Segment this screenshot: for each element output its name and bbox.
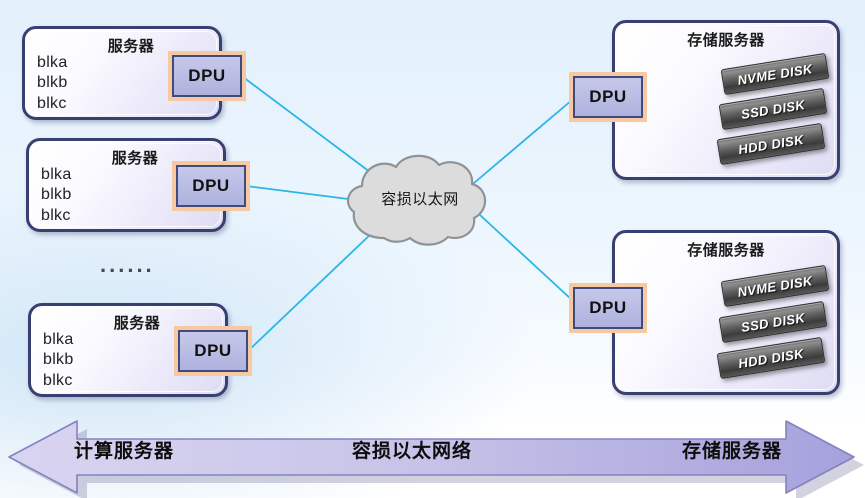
dpu-compute-3[interactable]: DPU (178, 330, 248, 372)
compute-server-3-blocks: blka blkb blkc (43, 330, 74, 391)
disk-ssd: SSD DISK (719, 301, 828, 343)
cloud-label: 容损以太网 (355, 188, 485, 209)
disk-nvme: NVME DISK (721, 265, 830, 307)
banner-label-storage: 存储服务器 (682, 436, 782, 463)
banner-label-compute: 计算服务器 (74, 436, 174, 463)
block-device-blkb: blkb (43, 350, 74, 370)
block-device-blkc: blkc (37, 94, 68, 114)
block-device-blkc: blkc (43, 371, 74, 391)
server-ellipsis: ...... (100, 252, 155, 278)
block-device-blka: blka (37, 53, 68, 73)
diagram-canvas: 容损以太网 服务器 blka blkb blkc DPU 服务器 blka bl… (0, 0, 865, 498)
block-device-blkc: blkc (41, 206, 72, 226)
block-device-blka: blka (43, 330, 74, 350)
banner-label-network: 容损以太网络 (352, 436, 472, 463)
block-device-blka: blka (41, 165, 72, 185)
disk-hdd: HDD DISK (717, 123, 826, 165)
dpu-compute-1[interactable]: DPU (172, 55, 242, 97)
storage-server-2-title: 存储服务器 (615, 239, 837, 260)
block-device-blkb: blkb (37, 73, 68, 93)
storage-server-1[interactable]: 存储服务器 NVME DISK SSD DISK HDD DISK (612, 20, 840, 180)
storage-server-2[interactable]: 存储服务器 NVME DISK SSD DISK HDD DISK (612, 230, 840, 395)
disk-hdd: HDD DISK (717, 337, 826, 379)
dpu-storage-2[interactable]: DPU (573, 287, 643, 329)
compute-server-2-blocks: blka blkb blkc (41, 165, 72, 226)
dpu-storage-1[interactable]: DPU (573, 76, 643, 118)
compute-server-1-blocks: blka blkb blkc (37, 53, 68, 114)
storage-server-1-title: 存储服务器 (615, 29, 837, 50)
block-device-blkb: blkb (41, 185, 72, 205)
dpu-compute-2[interactable]: DPU (176, 165, 246, 207)
